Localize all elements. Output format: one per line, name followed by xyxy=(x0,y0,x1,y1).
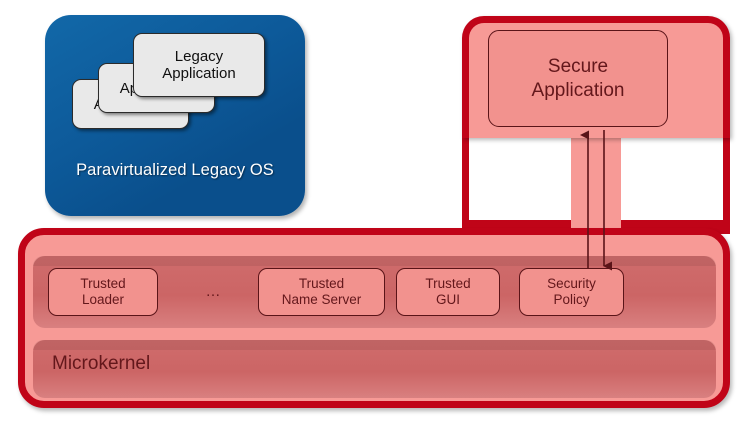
legacy-application-card-3-line2: Application xyxy=(162,65,235,82)
secure-frame-right-notch xyxy=(621,132,723,220)
trusted-name-server-label: Trusted Name Server xyxy=(282,276,362,308)
trusted-loader-box: Trusted Loader xyxy=(48,268,158,316)
trusted-gui-box: Trusted GUI xyxy=(396,268,500,316)
legacy-application-card-3-label: Legacy Application xyxy=(162,48,235,82)
legacy-application-card-3-line1: Legacy xyxy=(162,48,235,65)
trusted-name-server-line1: Trusted xyxy=(282,276,362,292)
trusted-loader-label: Trusted Loader xyxy=(80,276,125,308)
trusted-name-server-line2: Name Server xyxy=(282,292,362,308)
secure-application-label: Secure Application xyxy=(532,55,625,103)
trusted-loader-line1: Trusted xyxy=(80,276,125,292)
security-policy-line1: Security xyxy=(547,276,596,292)
security-policy-label: Security Policy xyxy=(547,276,596,308)
security-policy-line2: Policy xyxy=(547,292,596,308)
microkernel-label: Microkernel xyxy=(52,352,150,376)
legacy-application-card-3: Legacy Application xyxy=(133,33,265,97)
trusted-gui-line1: Trusted xyxy=(425,276,470,292)
secure-frame-left-notch-edge xyxy=(469,220,571,227)
trusted-gui-label: Trusted GUI xyxy=(425,276,470,308)
secure-application-box: Secure Application xyxy=(488,30,668,127)
secure-frame-neck xyxy=(571,132,621,238)
security-policy-box: Security Policy xyxy=(519,268,624,316)
secure-application-line2: Application xyxy=(532,79,625,103)
architecture-diagram: Paravirtualized Legacy OS Application Ap… xyxy=(0,0,750,426)
secure-frame-left-notch xyxy=(469,132,571,220)
trusted-servers-band-bevel xyxy=(33,256,716,266)
microkernel-band-bevel xyxy=(33,340,716,350)
legacy-os-label: Paravirtualized Legacy OS xyxy=(45,161,305,180)
secure-frame-right-notch-edge xyxy=(621,220,723,227)
trusted-name-server-box: Trusted Name Server xyxy=(258,268,385,316)
trusted-gui-line2: GUI xyxy=(425,292,470,308)
secure-application-line1: Secure xyxy=(532,55,625,79)
servers-ellipsis: … xyxy=(192,283,236,300)
trusted-loader-line2: Loader xyxy=(80,292,125,308)
